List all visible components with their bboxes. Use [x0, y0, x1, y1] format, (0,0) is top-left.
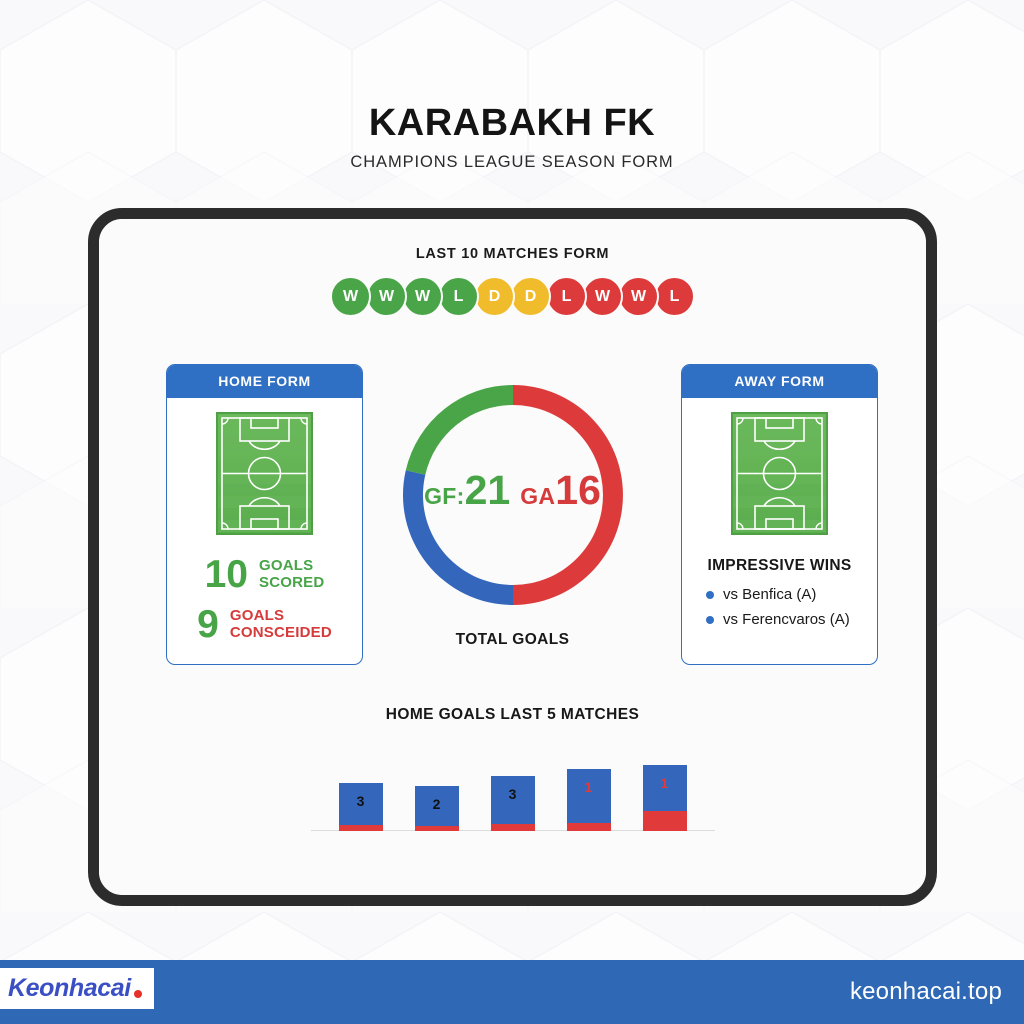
- site-logo[interactable]: Keonhacai: [0, 968, 154, 1009]
- form-badge-2: W: [366, 276, 407, 317]
- bar-column: 3: [339, 783, 383, 831]
- bar-column: 2: [415, 786, 459, 831]
- logo-dot-icon: [134, 990, 142, 998]
- gf-value: 21: [465, 467, 511, 513]
- bar-conceded-segment: [643, 811, 687, 831]
- form-badge-3: W: [402, 276, 443, 317]
- gf-label: GF:: [424, 483, 465, 509]
- donut-center-values: GF:21GA16: [424, 467, 601, 514]
- bar-value-label: 1: [661, 775, 669, 791]
- last-10-form-title: LAST 10 MATCHES FORM: [99, 246, 926, 262]
- bar-value-label: 1: [585, 779, 593, 795]
- form-badge-5: D: [474, 276, 515, 317]
- home-form-title: HOME FORM: [167, 365, 362, 398]
- bar: [491, 776, 535, 831]
- bar-conceded-segment: [491, 824, 535, 831]
- form-badge-1: W: [330, 276, 371, 317]
- bullet-icon: [706, 616, 714, 624]
- ga-value: 16: [555, 467, 601, 513]
- home-goals-scored-label-line2: SCORED: [259, 575, 324, 592]
- bar-conceded-segment: [567, 823, 611, 831]
- form-badge-6: D: [510, 276, 551, 317]
- home-form-body: 10 GOALS SCORED 9 GOALS CONSCEIDED: [167, 398, 362, 654]
- page-subtitle: CHAMPIONS LEAGUE SEASON FORM: [0, 153, 1024, 172]
- page-title: KARABAKH FK: [0, 104, 1024, 144]
- away-form-body: IMPRESSIVE WINS vs Benfica (A)vs Ferencv…: [682, 398, 877, 646]
- home-goals-scored-label-line1: GOALS: [259, 558, 324, 575]
- bar-column: 3: [491, 776, 535, 831]
- home-goals-conceded-label-line2: CONSCEIDED: [230, 625, 332, 642]
- stats-card-frame: LAST 10 MATCHES FORM WWWLDDLWWL HOME FOR…: [88, 208, 937, 906]
- form-badge-4: L: [438, 276, 479, 317]
- bar-value-label: 3: [357, 793, 365, 809]
- form-badge-7: L: [546, 276, 587, 317]
- home-goals-bar-chart: HOME GOALS LAST 5 MATCHES 32311: [99, 706, 926, 862]
- site-url: keonhacai.top: [850, 978, 1002, 1006]
- total-goals-donut-chart: GF:21GA16 TOTAL GOALS: [385, 367, 641, 649]
- bar-conceded-segment: [339, 825, 383, 831]
- site-logo-text: Keonhacai: [8, 974, 131, 1003]
- total-goals-caption: TOTAL GOALS: [385, 631, 641, 649]
- form-badge-8: W: [582, 276, 623, 317]
- home-form-panel: HOME FORM: [166, 364, 363, 665]
- ga-label: GA: [520, 483, 555, 509]
- home-goals-conceded-label-line1: GOALS: [230, 608, 332, 625]
- away-form-panel: AWAY FORM: [681, 364, 878, 665]
- impressive-wins-list: vs Benfica (A)vs Ferencvaros (A): [692, 586, 867, 628]
- impressive-win-label: vs Ferencvaros (A): [723, 611, 850, 628]
- bar-list: 32311: [311, 765, 715, 831]
- home-goals-scored-value: 10: [205, 555, 248, 594]
- bar-value-label: 3: [509, 786, 517, 802]
- home-goals-chart-title: HOME GOALS LAST 5 MATCHES: [99, 706, 926, 724]
- impressive-win-item: vs Benfica (A): [706, 586, 867, 603]
- bar-column: 1: [643, 765, 687, 831]
- form-badge-9: W: [618, 276, 659, 317]
- last-10-form-section: LAST 10 MATCHES FORM WWWLDDLWWL: [99, 246, 926, 317]
- bar-conceded-segment: [415, 826, 459, 831]
- impressive-wins-heading: IMPRESSIVE WINS: [692, 557, 867, 575]
- site-footer: Keonhacai keonhacai.top: [0, 960, 1024, 1024]
- home-goals-scored-row: 10 GOALS SCORED: [177, 555, 352, 594]
- home-goals-conceded-row: 9 GOALS CONSCEIDED: [177, 605, 352, 644]
- football-pitch-icon: [216, 412, 313, 535]
- bullet-icon: [706, 591, 714, 599]
- away-form-title: AWAY FORM: [682, 365, 877, 398]
- impressive-win-item: vs Ferencvaros (A): [706, 611, 867, 628]
- page-header: KARABAKH FK CHAMPIONS LEAGUE SEASON FORM: [0, 104, 1024, 172]
- impressive-win-label: vs Benfica (A): [723, 586, 816, 603]
- football-pitch-icon: [731, 412, 828, 535]
- form-badge-list: WWWLDDLWWL: [99, 276, 926, 317]
- bar-column: 1: [567, 769, 611, 831]
- stats-card-screen: LAST 10 MATCHES FORM WWWLDDLWWL HOME FOR…: [99, 219, 926, 895]
- bar-value-label: 2: [433, 796, 441, 812]
- bars-plot-area: 32311: [99, 747, 926, 862]
- home-goals-scored-label: GOALS SCORED: [259, 558, 324, 592]
- home-goals-conceded-value: 9: [197, 605, 219, 644]
- form-badge-10: L: [654, 276, 695, 317]
- home-goals-conceded-label: GOALS CONSCEIDED: [230, 608, 332, 642]
